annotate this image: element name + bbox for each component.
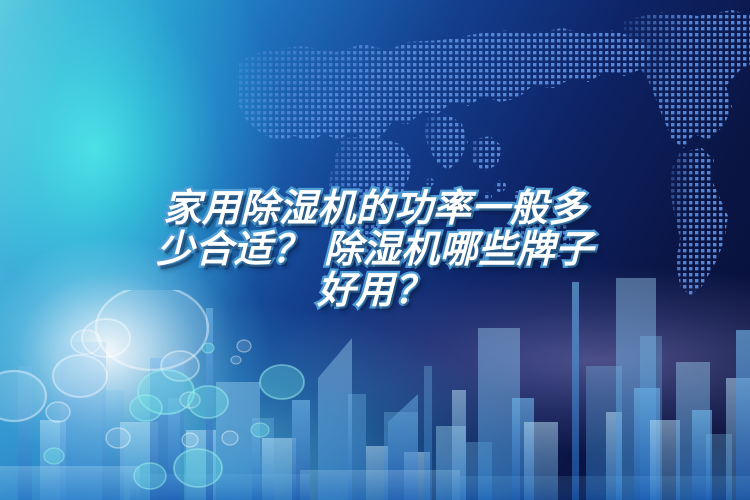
headline-line-2: 少合适？ 除湿机哪些牌子 <box>0 229 750 270</box>
promo-banner: 家用除湿机的功率一般多 少合适？ 除湿机哪些牌子 好用？ <box>0 0 750 500</box>
headline-line-1: 家用除湿机的功率一般多 <box>0 188 750 229</box>
headline-line-3: 好用？ <box>0 270 750 311</box>
headline-block: 家用除湿机的功率一般多 少合适？ 除湿机哪些牌子 好用？ <box>0 188 750 311</box>
bubbles-graphic <box>0 290 470 500</box>
